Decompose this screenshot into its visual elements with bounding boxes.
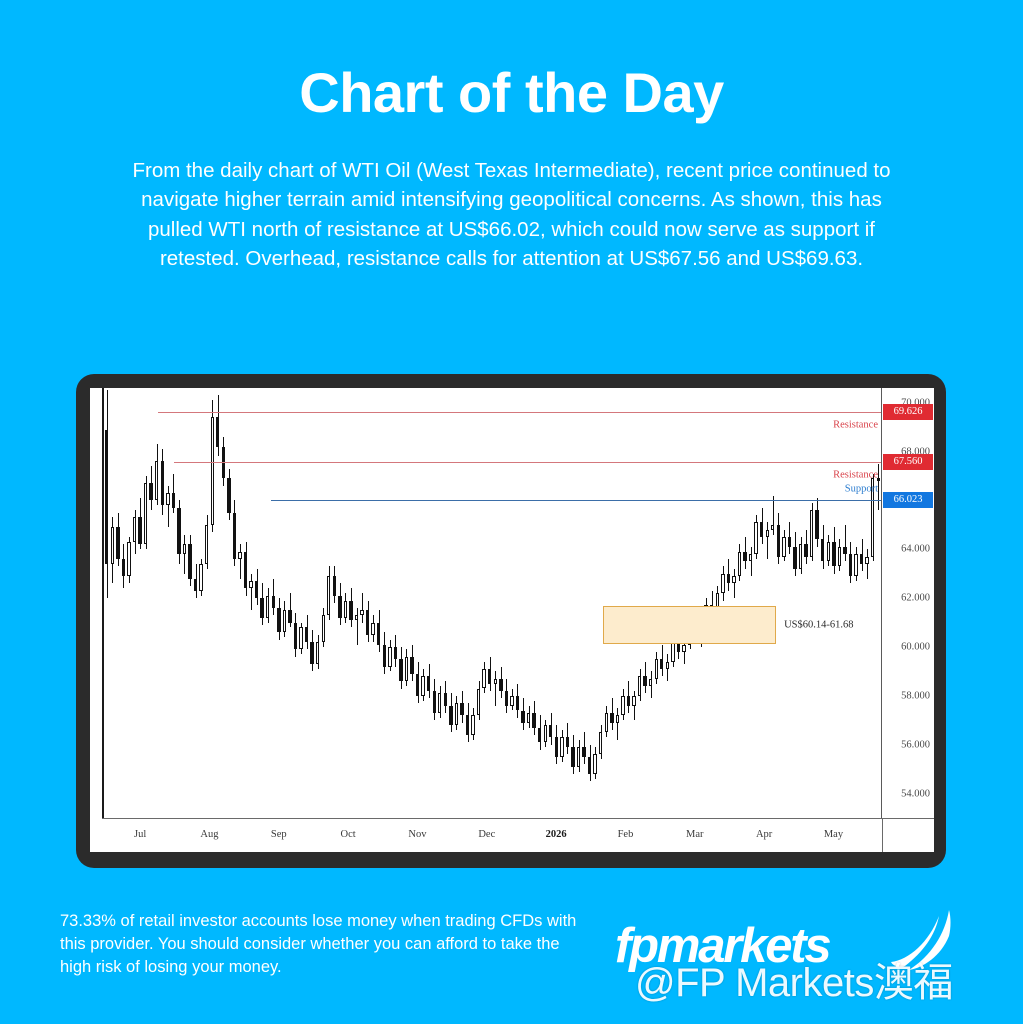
candle-body-bearish bbox=[394, 647, 397, 659]
candle-body-bullish bbox=[283, 610, 286, 632]
candle-body-bullish bbox=[405, 657, 408, 681]
support-66023-line[interactable] bbox=[271, 500, 881, 501]
candle-body-bearish bbox=[177, 508, 180, 554]
candle-body-bullish bbox=[854, 554, 857, 576]
candle-body-bullish bbox=[166, 493, 169, 505]
resistance-67560-label: Resistance bbox=[833, 470, 878, 481]
candle-body-bearish bbox=[643, 676, 646, 686]
candle-body-bullish bbox=[738, 552, 741, 576]
time-tick-label: Apr bbox=[756, 829, 772, 840]
candle-body-bullish bbox=[721, 574, 724, 594]
candle-body-bullish bbox=[388, 647, 391, 667]
price-tick-label: 62.000 bbox=[901, 593, 930, 604]
candle-body-bearish bbox=[194, 579, 197, 591]
candle-body-bullish bbox=[471, 715, 474, 735]
candle-body-bullish bbox=[438, 693, 441, 713]
candle-body-bearish bbox=[538, 728, 541, 743]
candle-body-bullish bbox=[344, 601, 347, 618]
candle-body-bullish bbox=[865, 557, 868, 564]
candle-body-bullish bbox=[593, 754, 596, 774]
candle-body-bearish bbox=[399, 659, 402, 681]
resistance-69626-label: Resistance bbox=[833, 419, 878, 430]
candle-body-bearish bbox=[793, 547, 796, 569]
time-tick-label: Dec bbox=[478, 829, 495, 840]
candle-body-bullish bbox=[266, 596, 269, 618]
candle-body-bullish bbox=[766, 530, 769, 537]
candle-wick bbox=[878, 464, 879, 510]
candle-body-bullish bbox=[577, 747, 580, 767]
candle-wick bbox=[845, 525, 846, 562]
candle-body-bearish bbox=[516, 696, 519, 711]
candle-body-bullish bbox=[205, 525, 208, 564]
candle-body-bearish bbox=[466, 715, 469, 735]
candle-wick bbox=[495, 671, 496, 705]
candle-body-bullish bbox=[621, 696, 624, 716]
candle-body-bearish bbox=[743, 552, 746, 562]
account-watermark: @FP Markets澳福 bbox=[635, 950, 953, 1008]
candle-body-bearish bbox=[138, 517, 141, 544]
candle-body-bearish bbox=[188, 544, 191, 578]
candle-body-bearish bbox=[610, 713, 613, 723]
candle-body-bearish bbox=[532, 713, 535, 728]
candle-body-bullish bbox=[682, 645, 685, 652]
candle-body-bearish bbox=[277, 608, 280, 632]
candle-body-bullish bbox=[249, 581, 252, 588]
price-tick-label: 56.000 bbox=[901, 739, 930, 750]
candle-body-bullish bbox=[671, 642, 674, 662]
candle-body-bullish bbox=[455, 703, 458, 725]
candle-body-bearish bbox=[260, 598, 263, 618]
support-66023-tag[interactable]: 66.023 bbox=[883, 492, 933, 508]
candle-body-bearish bbox=[310, 642, 313, 664]
candle-body-bearish bbox=[571, 747, 574, 767]
resistance-67560-line[interactable] bbox=[174, 462, 881, 463]
candle-body-bullish bbox=[732, 576, 735, 583]
candle-wick bbox=[362, 593, 363, 622]
candle-body-bearish bbox=[366, 610, 369, 634]
candle-body-bearish bbox=[555, 737, 558, 757]
candle-body-bearish bbox=[588, 757, 591, 774]
candle-body-bullish bbox=[838, 547, 841, 567]
candle-body-bullish bbox=[782, 537, 785, 557]
candle-body-bearish bbox=[499, 679, 502, 691]
candle-body-bearish bbox=[122, 559, 125, 576]
candle-body-bearish bbox=[727, 574, 730, 584]
candle-body-bearish bbox=[582, 747, 585, 757]
page-title: Chart of the Day bbox=[0, 0, 1023, 124]
candle-wick bbox=[357, 608, 358, 645]
candle-body-bullish bbox=[144, 483, 147, 544]
candle-body-bullish bbox=[649, 679, 652, 686]
time-tick-label: 2026 bbox=[546, 829, 567, 840]
candle-wick bbox=[168, 486, 169, 528]
candle-body-bullish bbox=[371, 623, 374, 635]
time-tick-label: May bbox=[824, 829, 843, 840]
candle-body-bullish bbox=[127, 542, 130, 576]
candle-body-bearish bbox=[843, 547, 846, 554]
candle-body-bearish bbox=[227, 478, 230, 512]
chart-canvas: US$60.14-61.68ResistanceResistanceSuppor… bbox=[104, 388, 881, 818]
demand-zone[interactable] bbox=[603, 606, 776, 644]
zone-price-label: US$60.14-61.68 bbox=[784, 619, 853, 630]
candle-body-bearish bbox=[105, 430, 108, 564]
candle-body-bearish bbox=[172, 493, 175, 508]
candle-body-bullish bbox=[211, 417, 214, 525]
candle-body-bullish bbox=[544, 725, 547, 742]
resistance-69626-line[interactable] bbox=[158, 412, 881, 413]
time-axis[interactable]: JulAugSepOctNovDec2026FebMarAprMay bbox=[102, 818, 934, 852]
candle-body-bearish bbox=[338, 596, 341, 618]
candle-body-bearish bbox=[272, 596, 275, 608]
candle-body-bearish bbox=[288, 610, 291, 622]
candle-body-bullish bbox=[599, 732, 602, 754]
candle-body-bullish bbox=[799, 544, 802, 568]
candle-body-bearish bbox=[410, 657, 413, 674]
price-tick-label: 60.000 bbox=[901, 641, 930, 652]
candle-body-bullish bbox=[133, 517, 136, 541]
price-tick-label: 64.000 bbox=[901, 544, 930, 555]
candle-body-bullish bbox=[527, 713, 530, 723]
candle-body-bearish bbox=[149, 483, 152, 500]
candle-wick bbox=[251, 574, 252, 611]
candle-body-bearish bbox=[116, 527, 119, 559]
candle-body-bearish bbox=[760, 522, 763, 537]
candle-body-bearish bbox=[255, 581, 258, 598]
candle-body-bearish bbox=[333, 576, 336, 596]
candle-wick bbox=[617, 708, 618, 740]
candle-body-bullish bbox=[666, 662, 669, 669]
candle-body-bullish bbox=[482, 669, 485, 689]
candle-body-bullish bbox=[616, 715, 619, 722]
candle-body-bearish bbox=[161, 461, 164, 505]
time-tick-label: Feb bbox=[618, 829, 634, 840]
candle-body-bullish bbox=[421, 676, 424, 696]
candle-body-bullish bbox=[322, 615, 325, 642]
candle-body-bearish bbox=[521, 711, 524, 723]
candle-body-bearish bbox=[416, 674, 419, 696]
candle-body-bearish bbox=[849, 554, 852, 576]
candle-body-bearish bbox=[383, 645, 386, 667]
candle-body-bearish bbox=[444, 693, 447, 705]
candle-body-bearish bbox=[427, 676, 430, 691]
candle-body-bearish bbox=[460, 703, 463, 715]
candle-body-bullish bbox=[360, 610, 363, 615]
candle-body-bearish bbox=[821, 539, 824, 561]
resistance-69626-tag[interactable]: 69.626 bbox=[883, 404, 933, 420]
chart-plot-area[interactable]: US$60.14-61.68ResistanceResistanceSuppor… bbox=[102, 388, 882, 818]
price-axis[interactable]: 70.00068.00066.00064.00062.00060.00058.0… bbox=[882, 388, 934, 818]
candle-body-bearish bbox=[777, 525, 780, 557]
candle-body-bullish bbox=[605, 713, 608, 733]
candle-body-bearish bbox=[860, 554, 863, 564]
candle-body-bearish bbox=[488, 669, 491, 684]
candle-body-bearish bbox=[244, 552, 247, 589]
candle-body-bearish bbox=[349, 601, 352, 621]
candle-body-bullish bbox=[199, 564, 202, 591]
candle-body-bearish bbox=[627, 696, 630, 706]
candle-body-bullish bbox=[655, 659, 658, 679]
candle-body-bullish bbox=[494, 679, 497, 684]
candle-body-bullish bbox=[111, 527, 114, 564]
candle-body-bearish bbox=[804, 544, 807, 556]
time-tick-label: Sep bbox=[271, 829, 287, 840]
candle-body-bullish bbox=[771, 525, 774, 530]
intro-paragraph: From the daily chart of WTI Oil (West Te… bbox=[132, 156, 892, 274]
candle-body-bullish bbox=[827, 542, 830, 562]
candle-body-bearish bbox=[505, 691, 508, 706]
candle-body-bearish bbox=[815, 510, 818, 539]
candle-body-bullish bbox=[749, 554, 752, 561]
candle-body-bullish bbox=[810, 510, 813, 556]
candle-body-bullish bbox=[327, 576, 330, 615]
resistance-67560-tag[interactable]: 67.560 bbox=[883, 454, 933, 470]
candle-body-bearish bbox=[566, 737, 569, 747]
candle-body-bearish bbox=[377, 623, 380, 645]
candle-body-bearish bbox=[549, 725, 552, 737]
price-tick-label: 54.000 bbox=[901, 788, 930, 799]
candle-body-bearish bbox=[305, 627, 308, 642]
candle-body-bullish bbox=[477, 689, 480, 716]
risk-disclaimer: 73.33% of retail investor accounts lose … bbox=[60, 910, 580, 979]
time-tick-label: Aug bbox=[200, 829, 218, 840]
time-tick-label: Nov bbox=[408, 829, 426, 840]
chart-screen: US$60.14-61.68ResistanceResistanceSuppor… bbox=[90, 388, 934, 852]
candle-body-bullish bbox=[238, 552, 241, 559]
axis-separator bbox=[882, 819, 883, 852]
candle-body-bearish bbox=[433, 691, 436, 713]
candle-wick bbox=[240, 544, 241, 578]
candle-body-bullish bbox=[632, 696, 635, 706]
candle-body-bearish bbox=[294, 623, 297, 650]
candle-body-bullish bbox=[299, 627, 302, 649]
candle-body-bearish bbox=[660, 659, 663, 669]
candle-body-bullish bbox=[560, 737, 563, 757]
candle-body-bearish bbox=[449, 706, 452, 726]
candle-body-bullish bbox=[355, 615, 358, 620]
time-tick-label: Jul bbox=[134, 829, 146, 840]
candle-body-bullish bbox=[183, 544, 186, 554]
candle-body-bearish bbox=[233, 513, 236, 559]
candle-body-bullish bbox=[316, 642, 319, 664]
candle-body-bearish bbox=[832, 542, 835, 566]
candle-body-bullish bbox=[510, 696, 513, 706]
time-tick-label: Oct bbox=[341, 829, 356, 840]
price-tick-label: 58.000 bbox=[901, 690, 930, 701]
candle-wick bbox=[751, 547, 752, 576]
candle-wick bbox=[767, 522, 768, 559]
time-tick-label: Mar bbox=[686, 829, 704, 840]
brand-logo: fpmarkets @FP Markets澳福 bbox=[605, 912, 1005, 992]
candle-wick bbox=[867, 549, 868, 578]
chart-device-frame: US$60.14-61.68ResistanceResistanceSuppor… bbox=[76, 374, 946, 868]
support-66023-label: Support bbox=[845, 483, 878, 494]
candle-body-bearish bbox=[216, 417, 219, 446]
candle-body-bullish bbox=[754, 522, 757, 554]
candle-body-bearish bbox=[788, 537, 791, 547]
candle-body-bullish bbox=[638, 676, 641, 696]
candle-body-bullish bbox=[155, 461, 158, 500]
